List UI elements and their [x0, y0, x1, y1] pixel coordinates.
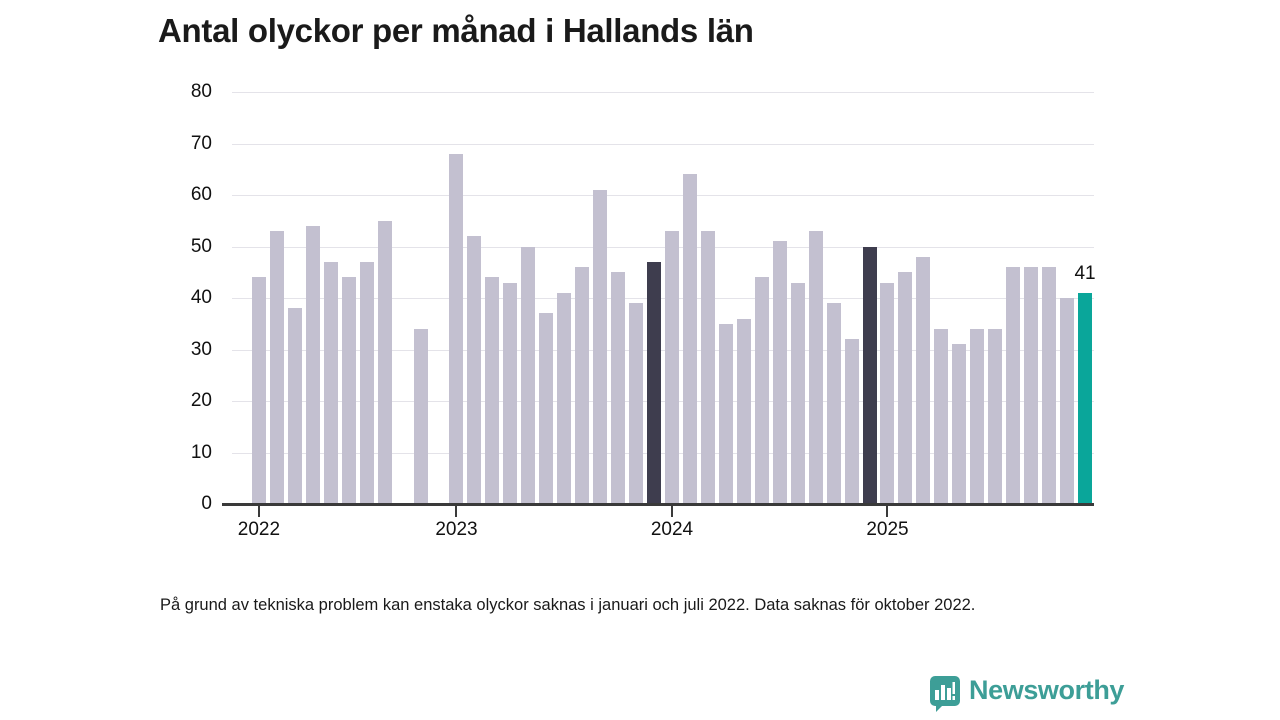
- plot-area: 41: [232, 92, 1094, 504]
- bar[interactable]: [827, 303, 841, 504]
- y-axis-tick-label: 10: [191, 442, 212, 464]
- x-axis-tick-label: 2025: [866, 519, 908, 541]
- bar[interactable]: [611, 272, 625, 504]
- page-title: Antal olyckor per månad i Hallands län: [158, 12, 754, 50]
- bar[interactable]: [1060, 298, 1074, 504]
- bar[interactable]: [773, 241, 787, 504]
- bar-value-label: 41: [1074, 263, 1095, 285]
- bar[interactable]: [880, 283, 894, 504]
- bar[interactable]: [934, 329, 948, 504]
- bar[interactable]: [449, 154, 463, 504]
- bar[interactable]: [845, 339, 859, 504]
- chart-caption: På grund av tekniska problem kan enstaka…: [160, 594, 1080, 618]
- bar[interactable]: [952, 344, 966, 504]
- y-axis-labels: 01020304050607080: [150, 92, 222, 504]
- bar[interactable]: [593, 190, 607, 504]
- bar[interactable]: [809, 231, 823, 504]
- chart-page: Antal olyckor per månad i Hallands län 0…: [0, 0, 1280, 720]
- bar[interactable]: [306, 226, 320, 504]
- bar[interactable]: [988, 329, 1002, 504]
- y-axis-tick-label: 50: [191, 236, 212, 258]
- bar[interactable]: [719, 324, 733, 504]
- x-axis-tick-label: 2022: [238, 519, 280, 541]
- y-axis-tick-label: 40: [191, 287, 212, 309]
- bar[interactable]: [503, 283, 517, 504]
- bar[interactable]: [252, 277, 266, 504]
- bar[interactable]: [737, 319, 751, 504]
- bar[interactable]: [1078, 293, 1092, 504]
- bar[interactable]: [863, 247, 877, 505]
- x-axis-tick: [455, 506, 457, 517]
- y-axis-tick-label: 60: [191, 184, 212, 206]
- bar[interactable]: [791, 283, 805, 504]
- bar[interactable]: [1006, 267, 1020, 504]
- bar[interactable]: [521, 247, 535, 505]
- x-axis-ticks: 2022202320242025: [232, 506, 1094, 546]
- x-axis-tick: [886, 506, 888, 517]
- bar[interactable]: [378, 221, 392, 504]
- newsworthy-logo: Newsworthy: [930, 675, 1124, 706]
- bar[interactable]: [647, 262, 661, 504]
- bar[interactable]: [1042, 267, 1056, 504]
- bar[interactable]: [360, 262, 374, 504]
- logo-wordmark: Newsworthy: [969, 675, 1124, 706]
- bar[interactable]: [665, 231, 679, 504]
- bar[interactable]: [629, 303, 643, 504]
- y-axis-tick-label: 0: [201, 493, 212, 515]
- y-axis-tick-label: 80: [191, 81, 212, 103]
- bar-chart-bubble-icon: [930, 676, 960, 706]
- bar[interactable]: [342, 277, 356, 504]
- y-axis-tick-label: 70: [191, 133, 212, 155]
- bar[interactable]: [467, 236, 481, 504]
- bar[interactable]: [324, 262, 338, 504]
- y-axis-tick-label: 20: [191, 390, 212, 412]
- bar[interactable]: [898, 272, 912, 504]
- bar[interactable]: [557, 293, 571, 504]
- x-axis-tick-label: 2023: [435, 519, 477, 541]
- bar[interactable]: [270, 231, 284, 504]
- bar[interactable]: [970, 329, 984, 504]
- bar[interactable]: [414, 329, 428, 504]
- bar[interactable]: [575, 267, 589, 504]
- x-axis-tick: [671, 506, 673, 517]
- bar-series: 41: [232, 92, 1094, 504]
- x-axis-tick-label: 2024: [651, 519, 693, 541]
- x-axis-tick: [258, 506, 260, 517]
- bar[interactable]: [539, 313, 553, 504]
- bar[interactable]: [1024, 267, 1038, 504]
- y-axis-tick-label: 30: [191, 339, 212, 361]
- bar[interactable]: [916, 257, 930, 504]
- bar[interactable]: [701, 231, 715, 504]
- bar[interactable]: [683, 174, 697, 504]
- bar[interactable]: [288, 308, 302, 504]
- bar[interactable]: [485, 277, 499, 504]
- bar[interactable]: [755, 277, 769, 504]
